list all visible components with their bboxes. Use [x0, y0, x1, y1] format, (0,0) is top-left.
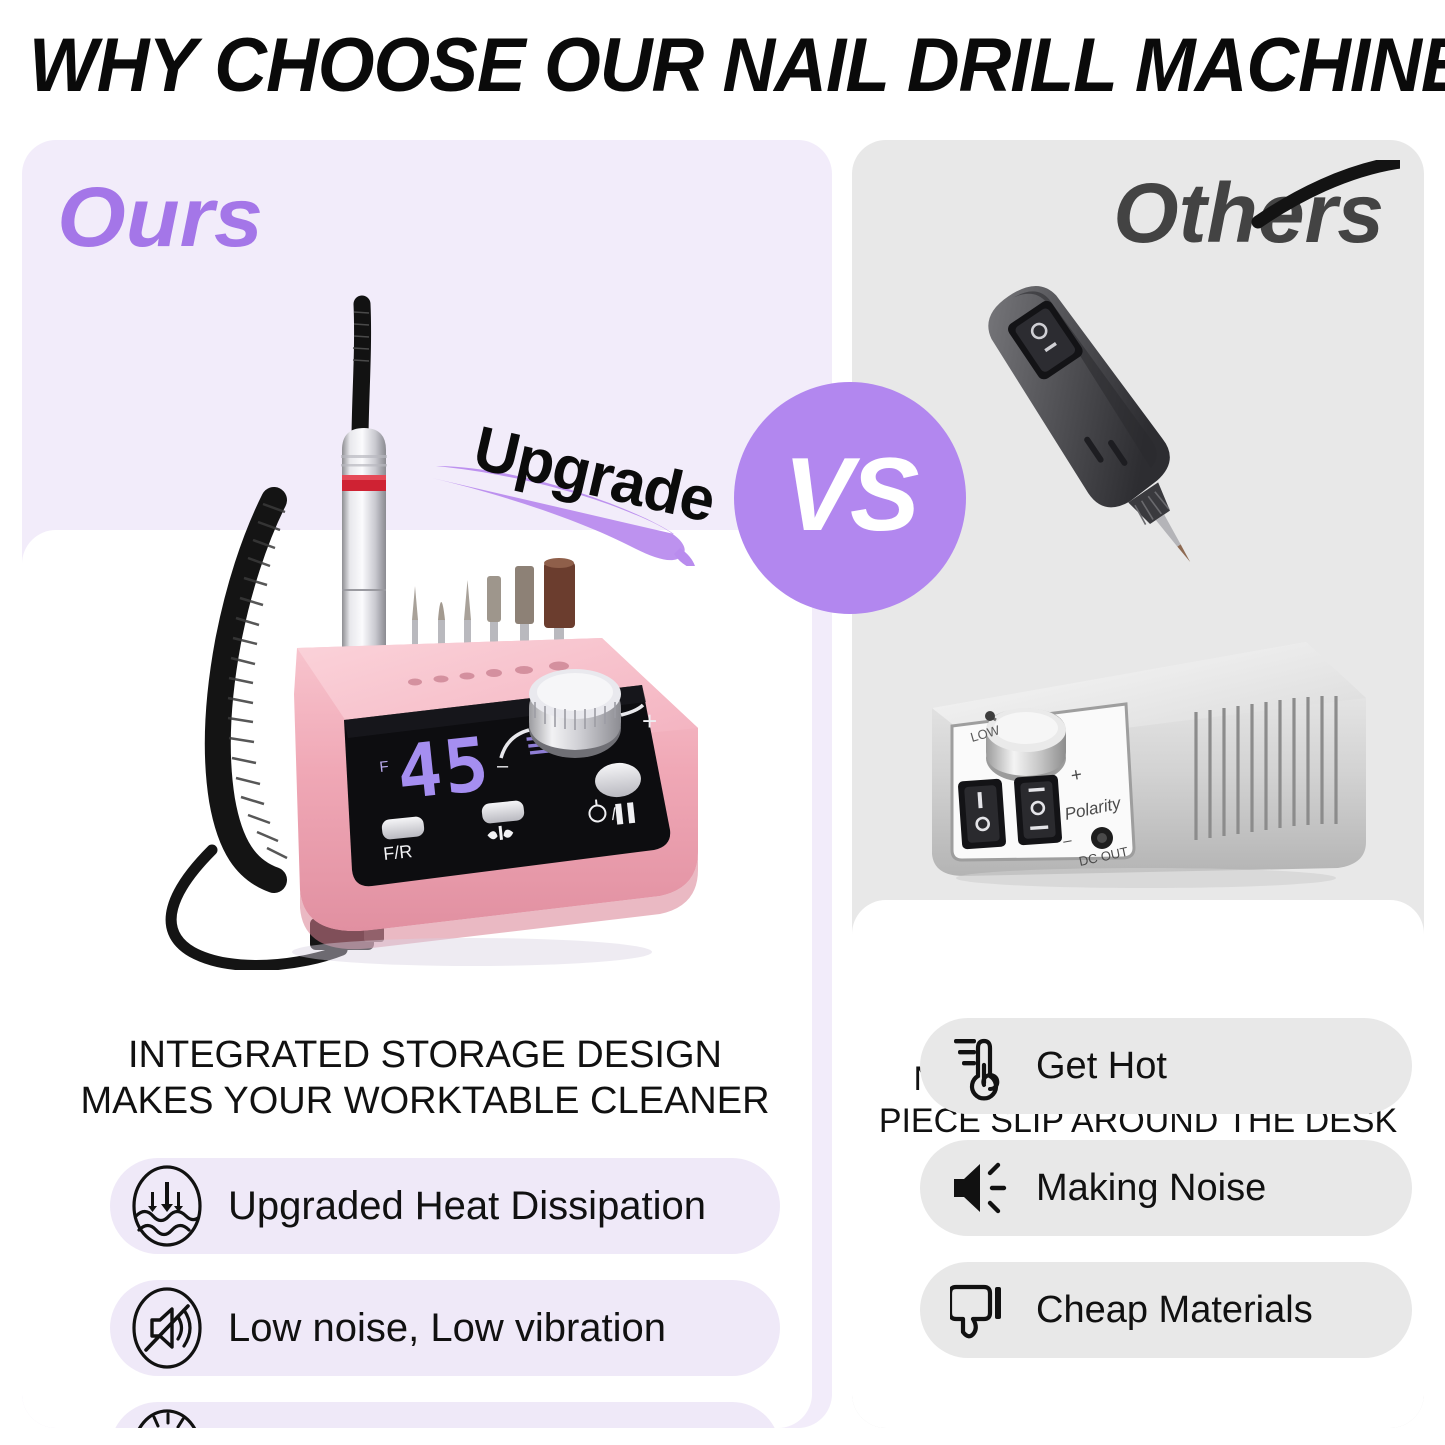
svg-text:F/R: F/R: [382, 841, 413, 864]
svg-text:45: 45: [393, 721, 495, 816]
svg-text:–: –: [497, 755, 509, 777]
mute-speaker-icon: [124, 1285, 210, 1371]
thumbs-down-icon: [946, 1273, 1012, 1347]
list-item-label: Low noise, Low vibration: [228, 1306, 666, 1351]
ours-label: Ours: [57, 172, 263, 262]
ours-caption: INTEGRATED STORAGE DESIGN MAKES YOUR WOR…: [62, 1032, 788, 1124]
vs-badge: VS: [734, 382, 966, 614]
page-title: WHY CHOOSE OUR NAIL DRILL MACHINE: [29, 22, 1416, 110]
upgrade-badge: Upgrade: [430, 408, 730, 568]
others-feature-list: Get Hot Making Noise: [920, 1018, 1412, 1384]
pink-nail-drill-illustration: F 45: [42, 290, 742, 970]
thumbs-up-icon: [124, 1407, 210, 1428]
heat-dissipation-icon: [124, 1163, 210, 1249]
infographic-page: WHY CHOOSE OUR NAIL DRILL MACHINE Ours: [0, 0, 1445, 1445]
list-item[interactable]: Cheap Materials: [920, 1262, 1412, 1358]
list-item[interactable]: Upgraded Heat Dissipation: [110, 1158, 780, 1254]
svg-text:F: F: [379, 758, 390, 776]
ours-card: Ours: [22, 140, 832, 1428]
list-item-label: Cheap Materials: [1036, 1289, 1313, 1332]
thermometer-hot-icon: [946, 1029, 1012, 1103]
list-item-label: Upgraded Heat Dissipation: [228, 1184, 706, 1229]
list-item[interactable]: High Quality Materials: [110, 1402, 780, 1428]
list-item[interactable]: Get Hot: [920, 1018, 1412, 1114]
list-item[interactable]: Making Noise: [920, 1140, 1412, 1236]
list-item-label: Get Hot: [1036, 1045, 1167, 1088]
vs-label: VS: [784, 443, 917, 547]
list-item-label: High Quality Materials: [228, 1428, 619, 1429]
svg-text:+: +: [642, 706, 657, 736]
list-item[interactable]: Low noise, Low vibration: [110, 1280, 780, 1376]
ours-caption-line2: MAKES YOUR WORKTABLE CLEANER: [62, 1078, 788, 1124]
speaker-loud-icon: [946, 1151, 1012, 1225]
ours-caption-line1: INTEGRATED STORAGE DESIGN: [62, 1032, 788, 1078]
list-item-label: Making Noise: [1036, 1167, 1266, 1210]
others-card: Others: [852, 140, 1424, 1428]
ours-feature-list: Upgraded Heat Dissipation Low noise, Low…: [110, 1158, 780, 1428]
